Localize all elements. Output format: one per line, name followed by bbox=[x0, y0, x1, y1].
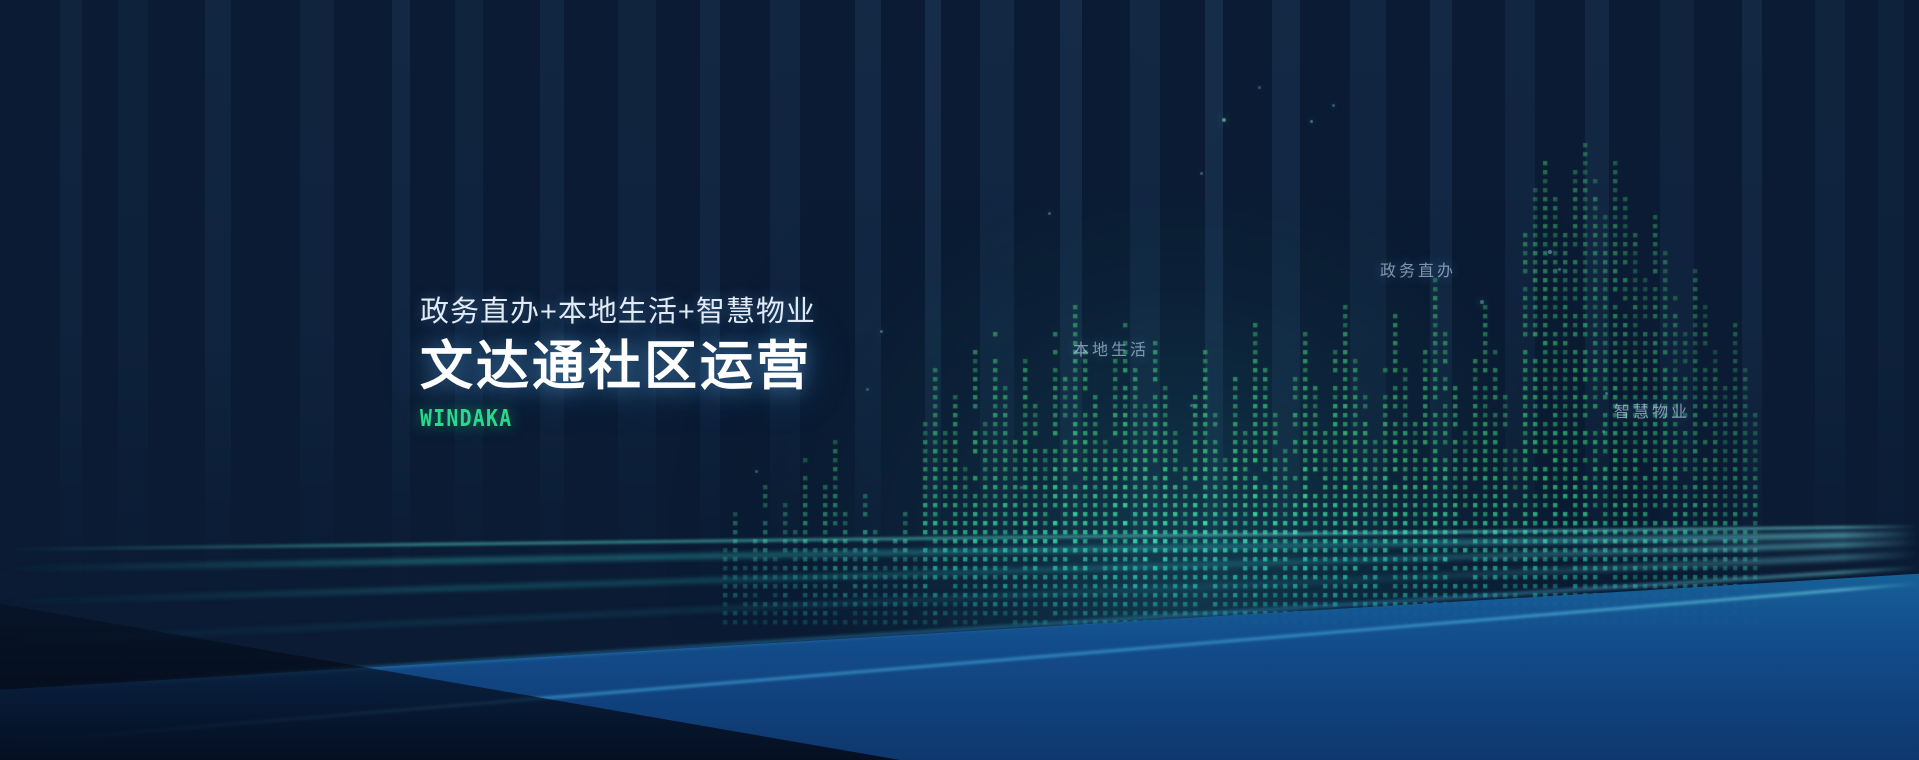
hero-subtitle: 政务直办+本地生活+智慧物业 bbox=[420, 296, 1120, 329]
hero-banner: 本地生活政务直办智慧物业 政务直办+本地生活+智慧物业 文达通社区运营 WIND… bbox=[0, 0, 1919, 760]
brand-wordmark: WINDAKA bbox=[420, 406, 1022, 432]
hero-copy-block: 政务直办+本地生活+智慧物业 文达通社区运营 WINDAKA bbox=[420, 296, 1120, 432]
hero-headline: 文达通社区运营 bbox=[420, 339, 1120, 395]
